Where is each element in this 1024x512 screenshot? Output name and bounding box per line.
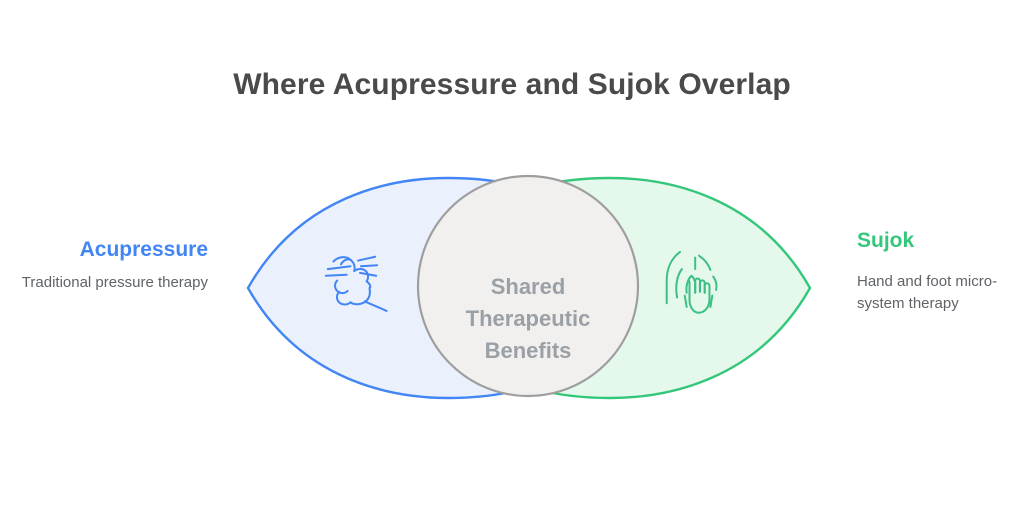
acupressure-heading: Acupressure xyxy=(8,237,208,263)
sujok-heading: Sujok xyxy=(857,228,1017,254)
shared-circle[interactable] xyxy=(418,176,638,396)
sujok-label-block: Sujok Hand and foot micro-system therapy xyxy=(857,228,1017,315)
acupressure-description: Traditional pressure therapy xyxy=(8,272,208,294)
diagram-canvas: Where Acupressure and Sujok Overlap xyxy=(0,0,1024,512)
acupressure-label-block: Acupressure Traditional pressure therapy xyxy=(8,237,208,294)
sujok-description: Hand and foot micro-system therapy xyxy=(857,271,1017,315)
